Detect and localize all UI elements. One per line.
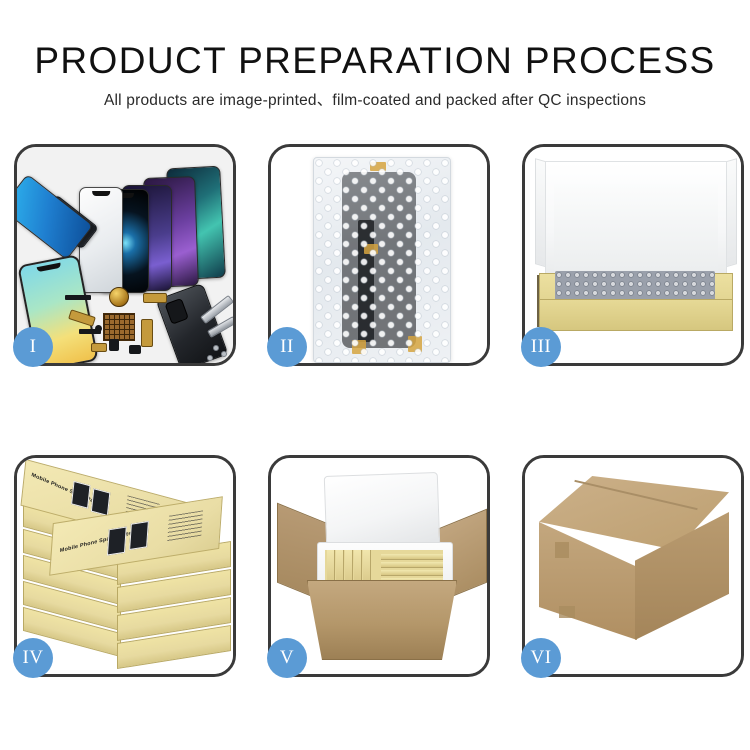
step-badge-4: IV	[13, 638, 53, 678]
foam-lined-box-illustration	[525, 147, 741, 363]
screw-component	[221, 351, 227, 357]
bubble-wrapped-screen-illustration	[271, 147, 487, 363]
process-step-panel-5[interactable]: V	[268, 455, 490, 677]
step-3-image	[525, 147, 741, 363]
stacked-retail-boxes-illustration: Mobile Phone Spare Parts Mobile Phone Sp…	[17, 458, 233, 674]
page-subtitle: All products are image-printed、film-coat…	[0, 88, 750, 110]
step-badge-6: VI	[521, 638, 561, 678]
camera-lens-component	[95, 325, 102, 332]
flex-cable-component	[141, 319, 153, 347]
sealed-shipping-carton-illustration	[525, 458, 741, 674]
foam-lid	[324, 472, 441, 550]
carton-tape-patch	[559, 606, 575, 618]
step-6-image	[525, 458, 741, 674]
process-step-panel-1[interactable]: I	[14, 144, 236, 366]
process-step-panel-2[interactable]: II	[268, 144, 490, 366]
screw-component	[207, 355, 213, 361]
sensor-component	[109, 339, 119, 351]
box-foam-lid	[545, 161, 727, 279]
process-step-grid: I II	[14, 144, 740, 677]
page-header: PRODUCT PREPARATION PROCESS All products…	[0, 0, 750, 130]
notch-icon	[92, 191, 110, 196]
process-step-panel-4[interactable]: Mobile Phone Spare Parts Mobile Phone Sp…	[14, 455, 236, 677]
carton-left-face	[539, 522, 637, 640]
camera-module-icon	[164, 298, 188, 325]
flex-cable-component	[143, 293, 167, 303]
retail-box-row	[381, 562, 443, 568]
step-2-image	[271, 147, 487, 363]
box-label-image	[129, 521, 149, 550]
cream-box-front-face	[539, 299, 733, 331]
step-badge-3: III	[521, 327, 561, 367]
speaker-component	[109, 287, 129, 307]
step-4-image: Mobile Phone Spare Parts Mobile Phone Sp…	[17, 458, 233, 674]
notch-icon	[37, 263, 62, 273]
carton-body	[307, 580, 457, 660]
retail-box-row	[381, 554, 443, 560]
earpiece-component	[65, 295, 91, 300]
screw-component	[213, 345, 219, 351]
button-component	[129, 345, 141, 354]
process-step-panel-3[interactable]: III	[522, 144, 744, 366]
step-5-image	[271, 458, 487, 674]
step-badge-1: I	[13, 327, 53, 367]
carton-with-foam-insert-illustration	[271, 458, 487, 674]
box-label-image	[107, 526, 127, 555]
chip-board-component	[103, 313, 135, 341]
flex-cable-component	[91, 343, 107, 352]
box-label-image	[71, 481, 91, 509]
bubble-texture	[314, 158, 450, 362]
step-1-image	[17, 147, 233, 363]
box-label-image	[91, 488, 111, 516]
retail-box-row	[381, 570, 443, 576]
page-title: PRODUCT PREPARATION PROCESS	[0, 40, 750, 82]
foam-inner-surface	[554, 184, 718, 270]
process-step-panel-6[interactable]: VI	[522, 455, 744, 677]
components-and-screens-illustration	[17, 147, 233, 363]
carton-tape-patch	[555, 542, 569, 558]
step-badge-5: V	[267, 638, 307, 678]
box-label-spec-lines	[167, 510, 203, 542]
bubble-wrap-bag	[313, 157, 451, 363]
step-badge-2: II	[267, 327, 307, 367]
